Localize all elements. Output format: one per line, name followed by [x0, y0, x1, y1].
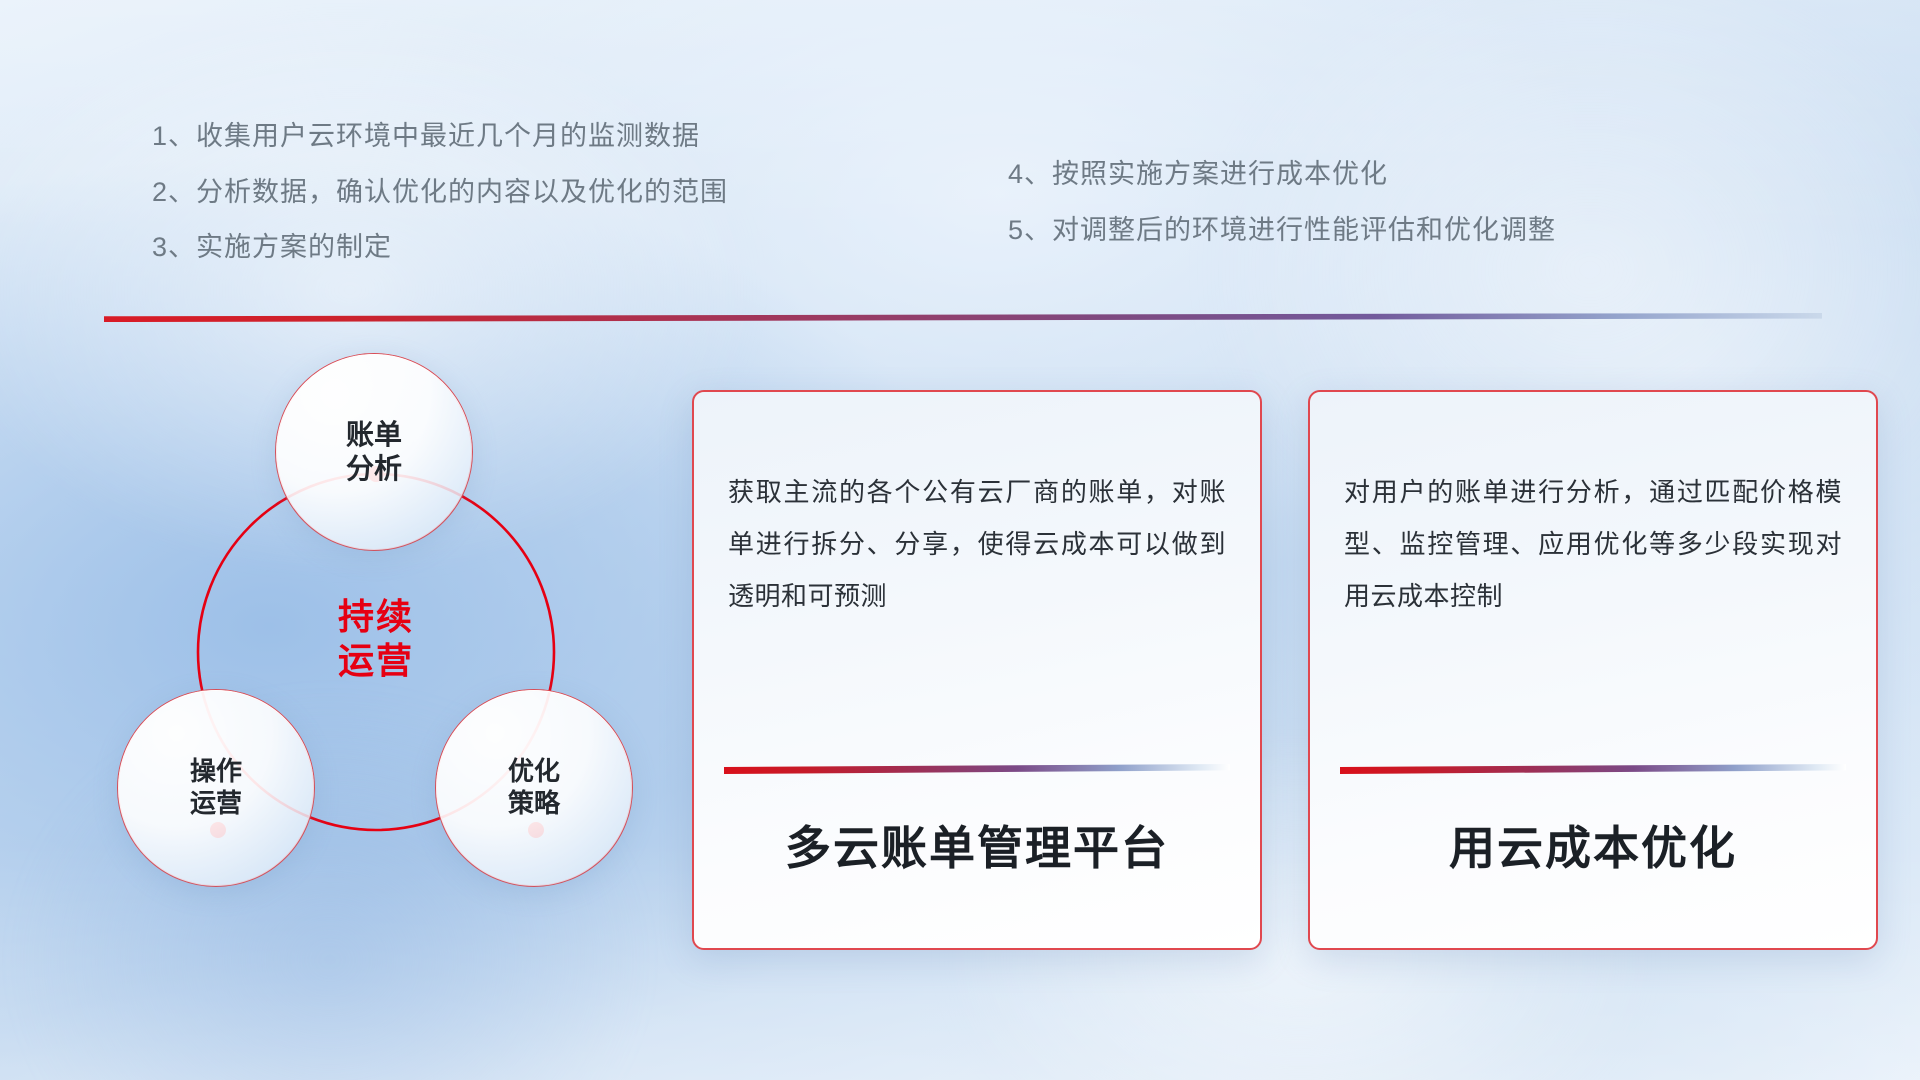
bubble-bill-line1: 账单 — [346, 419, 402, 450]
bubble-bill-line2: 分析 — [346, 453, 402, 484]
venn-center-label: 持续 运营 — [278, 564, 474, 714]
bubble-ops-line2: 运营 — [190, 788, 242, 818]
center-label-line1: 持续 — [338, 596, 414, 637]
card-multi-cloud-billing-body: 获取主流的各个公有云厂商的账单，对账单进行拆分、分享，使得云成本可以做到透明和可… — [728, 466, 1226, 622]
venn-center-label-text: 持续 运营 — [338, 595, 414, 683]
card-cloud-cost-optimization-body: 对用户的账单进行分析，通过匹配价格模型、监控管理、应用优化等多少段实现对用云成本… — [1344, 466, 1842, 622]
venn-bubble-operation[interactable]: 操作 运营 — [118, 690, 314, 886]
venn-diagram: 账单 分析 操作 运营 优化 策略 持续 运营 — [96, 352, 656, 952]
center-label-line2: 运营 — [338, 640, 414, 681]
card-multi-cloud-billing[interactable]: 获取主流的各个公有云厂商的账单，对账单进行拆分、分享，使得云成本可以做到透明和可… — [692, 390, 1262, 950]
venn-bubble-bill-analysis-label: 账单 分析 — [346, 418, 402, 486]
card-cloud-cost-optimization[interactable]: 对用户的账单进行分析，通过匹配价格模型、监控管理、应用优化等多少段实现对用云成本… — [1308, 390, 1878, 950]
venn-bubble-operation-label: 操作 运营 — [190, 756, 242, 819]
step-item-3: 3、实施方案的制定 — [152, 233, 728, 263]
step-item-1: 1、收集用户云环境中最近几个月的监测数据 — [152, 122, 728, 152]
venn-bubble-strategy[interactable]: 优化 策略 — [436, 690, 632, 886]
step-item-5: 5、对调整后的环境进行性能评估和优化调整 — [1008, 216, 1556, 246]
venn-bubble-bill-analysis[interactable]: 账单 分析 — [276, 354, 472, 550]
card-cloud-cost-optimization-rule — [1340, 764, 1846, 774]
card-multi-cloud-billing-rule — [724, 764, 1230, 774]
steps-list-right: 4、按照实施方案进行成本优化 5、对调整后的环境进行性能评估和优化调整 — [1008, 160, 1556, 271]
step-item-2: 2、分析数据，确认优化的内容以及优化的范围 — [152, 178, 728, 208]
venn-bubble-strategy-label: 优化 策略 — [508, 756, 560, 819]
bubble-ops-line1: 操作 — [190, 756, 242, 786]
bubble-strategy-line2: 策略 — [508, 788, 560, 818]
steps-list-left: 1、收集用户云环境中最近几个月的监测数据 2、分析数据，确认优化的内容以及优化的… — [152, 122, 728, 289]
step-item-4: 4、按照实施方案进行成本优化 — [1008, 160, 1556, 190]
card-multi-cloud-billing-title: 多云账单管理平台 — [694, 812, 1260, 878]
card-cloud-cost-optimization-title: 用云成本优化 — [1310, 812, 1876, 878]
bubble-strategy-line1: 优化 — [508, 756, 560, 786]
